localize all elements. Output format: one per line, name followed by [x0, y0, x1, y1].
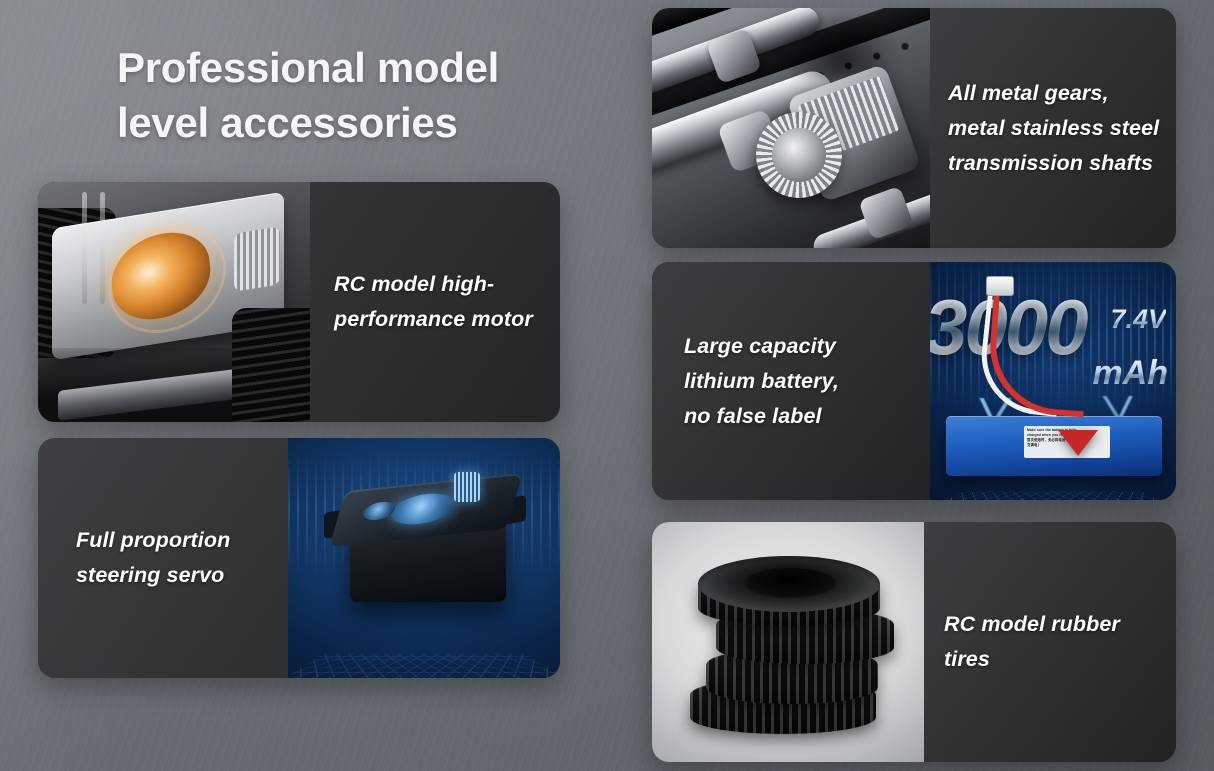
- battery-balance-plug: [986, 276, 1014, 296]
- gears-caption-line-1: All metal gears,: [948, 76, 1159, 111]
- gears-image: [652, 8, 930, 248]
- servo-image: [288, 438, 560, 678]
- feature-card-servo[interactable]: Full proportion steering servo: [38, 438, 560, 678]
- battery-capacity-unit: mAh: [1092, 354, 1168, 393]
- tires-caption: RC model rubber tires: [944, 607, 1120, 677]
- gears-caption-line-2: metal stainless steel: [948, 111, 1159, 146]
- motor-image: [38, 182, 310, 422]
- battery-hex-grid: [930, 492, 1176, 500]
- motor-wheel-right-icon: [232, 308, 310, 422]
- battery-voltage-label: 7.4V: [1110, 304, 1166, 335]
- battery-image: 3000 7.4V mAh Make sure the battery is f…: [930, 262, 1176, 500]
- motor-caption-line-1: RC model high-: [334, 267, 533, 302]
- tire-hub-opening: [744, 568, 836, 598]
- gears-caption: All metal gears, metal stainless steel t…: [948, 76, 1159, 180]
- tires-caption-line-1: RC model rubber: [944, 607, 1120, 642]
- gears-spur-gear: [756, 112, 842, 198]
- gears-caption-line-3: transmission shafts: [948, 145, 1159, 180]
- servo-caption-line-1: Full proportion: [76, 523, 230, 558]
- motor-caption: RC model high- performance motor: [334, 267, 533, 337]
- servo-output-spline: [454, 472, 480, 502]
- feature-card-gears[interactable]: All metal gears, metal stainless steel t…: [652, 8, 1176, 248]
- feature-card-motor[interactable]: RC model high- performance motor: [38, 182, 560, 422]
- battery-pack: Make sure the battery is fully charged w…: [946, 416, 1162, 476]
- tires-image: [652, 522, 924, 762]
- page-title: Professional model level accessories: [117, 41, 587, 150]
- motor-caption-line-2: performance motor: [334, 302, 533, 337]
- battery-deans-connector: [1058, 430, 1098, 456]
- servo-caption: Full proportion steering servo: [76, 523, 230, 593]
- battery-caption: Large capacity lithium battery, no false…: [684, 329, 839, 433]
- battery-caption-line-1: Large capacity: [684, 329, 839, 364]
- feature-card-battery[interactable]: 3000 7.4V mAh Make sure the battery is f…: [652, 262, 1176, 500]
- page-title-line-2: level accessories: [117, 96, 587, 151]
- battery-caption-line-3: no false label: [684, 398, 839, 433]
- page-title-line-1: Professional model: [117, 41, 587, 96]
- feature-card-tires[interactable]: RC model rubber tires: [652, 522, 1176, 762]
- infographic-canvas: Professional model level accessories RC …: [0, 0, 1214, 771]
- battery-caption-line-2: lithium battery,: [684, 364, 839, 399]
- tires-caption-line-2: tires: [944, 642, 1120, 677]
- servo-caption-line-2: steering servo: [76, 558, 230, 593]
- servo-hex-grid: [288, 654, 560, 678]
- motor-gear: [234, 226, 280, 291]
